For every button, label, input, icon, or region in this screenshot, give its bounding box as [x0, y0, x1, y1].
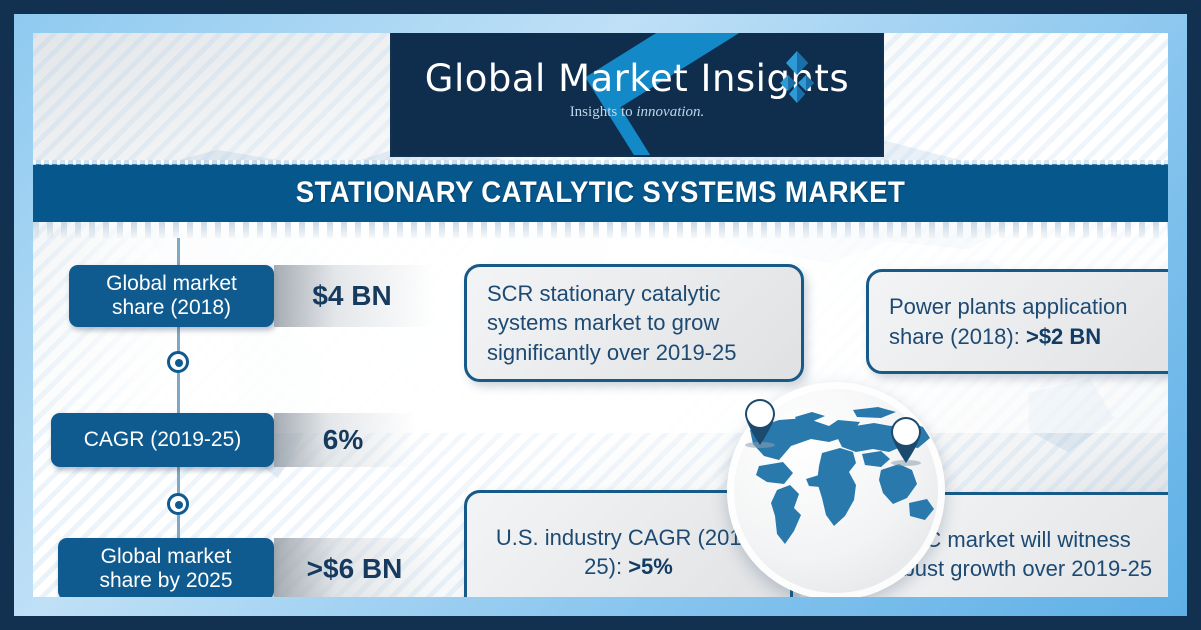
metric-value: $4 BN [274, 265, 434, 327]
infographic-root: Global Market Insights Insights to innov… [0, 0, 1201, 630]
content-stage: Global Market Insights Insights to innov… [33, 33, 1168, 597]
north-america-pin [743, 399, 777, 445]
page-title: STATIONARY CATALYTIC SYSTEMS MARKET [78, 164, 1122, 222]
asia-pacific-pin [889, 417, 923, 463]
brand-tagline-italic: innovation. [636, 104, 704, 120]
metric-label: Global market share (2018) [69, 265, 274, 327]
callout-highlight: >$2 BN [1026, 324, 1101, 349]
callout-text: SCR stationary catalytic systems market … [487, 279, 781, 366]
metric-value: >$6 BN [274, 538, 439, 597]
brand-tagline-prefix: Insights to [570, 104, 637, 120]
title-band: STATIONARY CATALYTIC SYSTEMS MARKET [33, 164, 1168, 222]
metric-row-global-share-2018: Global market share (2018) $4 BN [69, 265, 434, 327]
callout-card-scr-growth: SCR stationary catalytic systems market … [464, 264, 804, 382]
metric-row-cagr: CAGR (2019-25) 6% [51, 413, 416, 467]
timeline-node-2 [167, 493, 189, 515]
metric-label: CAGR (2019-25) [51, 413, 274, 467]
callout-text: Power plants application share (2018): >… [889, 292, 1168, 350]
metric-value: 6% [274, 413, 416, 467]
ruler-tick-strip [33, 222, 1168, 238]
callout-text: U.S. industry CAGR (2019-25): >5% [487, 523, 770, 581]
callout-highlight: >5% [628, 554, 673, 579]
metric-row-global-share-2025: Global market share by 2025 >$6 BN [58, 538, 439, 597]
callout-card-power-plants-share: Power plants application share (2018): >… [866, 269, 1168, 374]
brand-logo: Global Market Insights Insights to innov… [392, 33, 882, 155]
metric-label: Global market share by 2025 [58, 538, 274, 597]
diamond-cluster-icon [775, 51, 819, 107]
timeline-node-1 [167, 351, 189, 373]
title-band-top-highlight [33, 160, 1168, 165]
